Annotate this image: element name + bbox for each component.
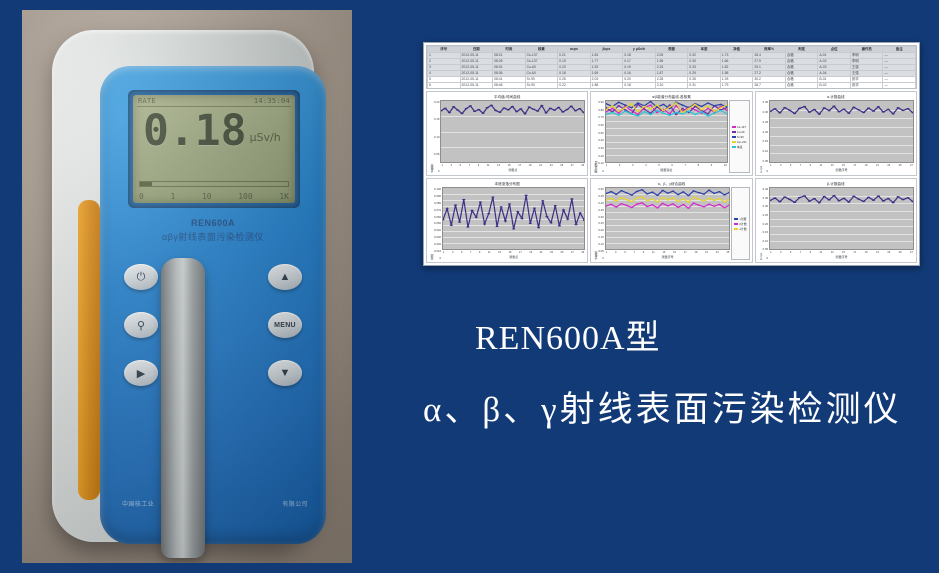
chart-data-point xyxy=(558,225,561,226)
chart-data-point xyxy=(444,108,447,109)
chart-data-point xyxy=(541,105,544,106)
chart-data-point xyxy=(838,200,841,201)
lcd-scale-tick: 0 xyxy=(139,192,144,201)
chart-data-point xyxy=(583,220,585,221)
chart-data-point xyxy=(677,201,680,202)
chart-data-point xyxy=(666,192,669,193)
chart-gridline xyxy=(770,162,913,163)
chart-data-point xyxy=(646,193,649,194)
chart-plot-area xyxy=(442,187,585,250)
chart-card[interactable]: α-计数曲线α cps0.350.300.250.200.150.100.050… xyxy=(755,91,917,176)
chart-data-point xyxy=(718,204,721,205)
device-grip-left xyxy=(78,200,100,500)
chart-legend-swatch xyxy=(734,218,738,220)
chart-y-tick: 0.010 xyxy=(434,249,441,253)
chart-data-point xyxy=(661,203,664,204)
chart-data-point xyxy=(833,106,836,107)
chart-data-point xyxy=(630,194,633,195)
chart-data-point xyxy=(636,111,639,112)
chart-data-point xyxy=(466,226,469,227)
chart-data-point xyxy=(862,112,865,113)
chart-y-axis-label: β cps xyxy=(758,187,763,260)
chart-data-point xyxy=(624,104,627,105)
lcd-scale-tick: 1K xyxy=(279,192,289,201)
chart-plot-area xyxy=(440,100,585,163)
chart-data-point xyxy=(545,216,548,217)
table-cell: 2012-05-11 xyxy=(460,89,493,90)
chart-data-point xyxy=(615,206,618,207)
chart-data-point xyxy=(475,217,478,218)
chart-data-point xyxy=(504,220,507,221)
chart-data-point xyxy=(828,110,831,111)
device-nameplate: REN600A αβγ射线表面污染检测仪 xyxy=(100,218,326,243)
chart-legend-item[interactable]: Sr-90 xyxy=(732,135,749,139)
lcd-reading: 0.18 μSv/h xyxy=(133,107,295,153)
chart-y-tick: 0.30 xyxy=(763,204,768,208)
chart-y-tick: 0.45 xyxy=(598,194,603,198)
product-banner: RATE 14:35:04 0.18 μSv/h 01101001K xyxy=(0,0,939,573)
product-title-model: REN600A型 xyxy=(423,310,939,359)
chart-data-point xyxy=(640,196,643,197)
chart-legend-swatch xyxy=(732,131,736,133)
chart-y-tick: 0.10 xyxy=(434,135,439,139)
chart-data-point xyxy=(852,107,855,108)
chart-data-point xyxy=(630,207,633,208)
device-keypad: ⏻ ⚲ ▶ ▲ MENU ▼ xyxy=(100,262,326,392)
chart-series-line xyxy=(443,195,584,229)
chart-data-point xyxy=(778,112,781,113)
chart-data-point xyxy=(882,200,885,201)
chart-data-point xyxy=(651,204,654,205)
table-cell: 08:51 xyxy=(493,89,526,90)
chart-y-tick: 0.15 xyxy=(763,230,768,234)
chart-data-point xyxy=(697,199,700,200)
chart-legend-label: Co-60 xyxy=(737,130,745,134)
chart-data-point xyxy=(700,109,703,110)
chart-y-axis-label: α cps xyxy=(758,100,763,173)
chart-data-point xyxy=(718,191,721,192)
chart-data-point xyxy=(818,113,821,114)
chart-data-point xyxy=(852,196,855,197)
chart-data-point xyxy=(723,194,726,195)
chart-data-point xyxy=(813,198,816,199)
lcd-scale-tick: 100 xyxy=(238,192,252,201)
chart-data-point xyxy=(656,207,659,208)
play-button[interactable]: ▶ xyxy=(124,360,158,386)
menu-button[interactable]: MENU xyxy=(268,312,302,338)
chart-data-point xyxy=(707,190,710,191)
chart-data-point xyxy=(675,114,678,115)
chart-data-point xyxy=(630,107,633,108)
table-cell: 0.17 xyxy=(623,89,656,90)
chart-data-point xyxy=(525,195,528,196)
chart-data-point xyxy=(491,196,494,197)
chart-data-point xyxy=(671,191,674,192)
chart-data-point xyxy=(713,105,716,106)
chart-data-point xyxy=(677,194,680,195)
chart-data-point xyxy=(687,108,690,109)
chart-data-point xyxy=(541,200,544,201)
chart-data-point xyxy=(465,108,468,109)
footer-text-right: 有限公司 xyxy=(282,499,308,508)
chart-data-point xyxy=(847,113,850,114)
table-cell: 0.20 xyxy=(558,89,591,90)
chart-legend-swatch xyxy=(732,146,736,148)
chart-data-point xyxy=(707,198,710,199)
chart-y-tick: 0.40 xyxy=(763,187,768,191)
chart-data-point xyxy=(882,111,885,112)
chart-data-point xyxy=(887,198,890,199)
lcd-value: 0.18 xyxy=(143,109,247,153)
chart-data-point xyxy=(692,190,695,191)
chart-data-point xyxy=(649,104,652,105)
chart-legend-swatch xyxy=(734,223,738,225)
chart-data-point xyxy=(702,200,705,201)
chart-y-tick: 0.30 xyxy=(598,215,603,219)
chart-data-point xyxy=(537,110,540,111)
chart-data-point xyxy=(862,201,865,202)
chart-data-point xyxy=(872,110,875,111)
table-cell: 7 xyxy=(428,89,461,90)
chart-y-axis-label: 本底 xyxy=(429,187,434,260)
table-cell: B-03 xyxy=(818,89,851,90)
chart-data-point xyxy=(558,107,561,108)
chart-data-point xyxy=(617,110,620,111)
chart-data-point xyxy=(617,102,620,103)
chart-data-point xyxy=(655,112,658,113)
chart-data-point xyxy=(524,113,527,114)
chart-legend-item[interactable]: γ剂量 xyxy=(734,217,748,221)
chart-y-tick: 0.90 xyxy=(598,100,603,104)
chart-x-axis-label: 测量点 xyxy=(442,255,585,260)
chart-data-point xyxy=(643,106,646,107)
chart-data-point xyxy=(671,203,674,204)
chart-legend: γ剂量β计数α计数 xyxy=(731,187,749,260)
chart-plot-area xyxy=(769,187,914,250)
chart-data-point xyxy=(651,198,654,199)
chart-data-point xyxy=(630,113,633,114)
table-cell: 李明 xyxy=(850,89,883,90)
chart-data-point xyxy=(574,224,577,225)
chart-card[interactable]: α/β能谱分布曲线-各核素相对强度0.900.800.700.600.500.4… xyxy=(590,91,752,176)
chart-y-tick: 0.080 xyxy=(434,201,441,205)
chart-data-point xyxy=(706,102,709,103)
chart-data-point xyxy=(793,113,796,114)
chart-data-point xyxy=(550,222,553,223)
table-cell: Cs-137 xyxy=(525,89,558,90)
chart-x-axis-label: 测量序号 xyxy=(769,255,914,260)
chart-data-point xyxy=(610,204,613,205)
chart-data-point xyxy=(516,111,519,112)
chart-data-point xyxy=(719,107,722,108)
chart-data-point xyxy=(666,199,669,200)
chart-y-tick: 0 xyxy=(434,256,441,260)
chart-y-tick: 0.35 xyxy=(598,208,603,212)
chart-y-tick: 0.05 xyxy=(763,247,768,251)
chart-data-point xyxy=(902,199,905,200)
chart-data-point xyxy=(554,205,557,206)
chart-y-ticks: 0.1000.0900.0800.0700.0600.0500.0400.030… xyxy=(434,187,442,260)
chart-data-point xyxy=(897,196,900,197)
chart-data-point xyxy=(562,209,565,210)
chart-y-tick: 0.40 xyxy=(598,138,603,142)
lcd-scale-tick: 1 xyxy=(170,192,175,201)
chart-data-point xyxy=(620,203,623,204)
chart-data-point xyxy=(457,109,460,110)
chart-data-point xyxy=(630,103,633,104)
chart-data-point xyxy=(668,104,671,105)
chart-y-tick: 0.10 xyxy=(598,161,603,165)
chart-data-point xyxy=(635,203,638,204)
chart-data-point xyxy=(798,197,801,198)
chart-data-point xyxy=(662,110,665,111)
chart-y-tick: 0.35 xyxy=(763,100,768,104)
lcd-screen: RATE 14:35:04 0.18 μSv/h 01101001K xyxy=(133,95,295,203)
chart-data-point xyxy=(808,111,811,112)
chart-y-tick: 0.070 xyxy=(434,208,441,212)
chart-data-point xyxy=(706,113,709,114)
chart-data-point xyxy=(702,193,705,194)
chart-data-point xyxy=(697,205,700,206)
chart-x-axis-label: 能量道址 xyxy=(605,168,728,173)
chart-data-point xyxy=(537,227,540,228)
chart-data-point xyxy=(520,108,523,109)
chart-data-point xyxy=(610,191,613,192)
table-cell: 合格 xyxy=(785,89,818,90)
chart-data-point xyxy=(570,106,573,107)
table-row[interactable]: 72012-05-1108:51Cs-1370.201.810.172.010.… xyxy=(428,89,916,90)
chart-legend: Cs-137Co-60Sr-90Am-241本底 xyxy=(729,100,750,173)
chart-data-point xyxy=(700,111,703,112)
chart-legend-swatch xyxy=(732,126,736,128)
chart-y-tick: 0.05 xyxy=(763,159,768,163)
table-cell: 1.81 xyxy=(590,89,623,90)
chart-y-tick: 0.020 xyxy=(434,242,441,246)
chart-card[interactable]: 本底涨落分布图本底0.1000.0900.0800.0700.0600.0500… xyxy=(426,178,588,263)
chart-data-point xyxy=(687,195,690,196)
chart-data-point xyxy=(450,225,453,226)
chart-data-point xyxy=(624,107,627,108)
chart-data-point xyxy=(828,199,831,200)
chart-data-point xyxy=(687,202,690,203)
chart-data-point xyxy=(697,192,700,193)
chart-data-point xyxy=(682,204,685,205)
chart-data-point xyxy=(630,110,633,111)
chart-legend-item[interactable]: β计数 xyxy=(734,222,748,226)
chart-data-point xyxy=(617,113,620,114)
chart-data-point xyxy=(636,102,639,103)
chart-legend-item[interactable]: Co-60 xyxy=(732,130,749,134)
chart-data-point xyxy=(611,112,614,113)
chart-data-point xyxy=(625,205,628,206)
chart-x-axis-label: 测量序号 xyxy=(769,168,914,173)
chart-legend-item[interactable]: Cs-137 xyxy=(732,125,749,129)
product-title-description: α、β、γ射线表面污染检测仪 xyxy=(423,381,939,432)
chart-card[interactable]: β-计数曲线β cps0.400.350.300.250.200.150.100… xyxy=(755,178,917,263)
lcd-unit: μSv/h xyxy=(250,131,281,153)
chart-y-tick: 0.20 xyxy=(763,222,768,226)
chart-legend-label: Am-241 xyxy=(737,140,747,144)
chart-gridline xyxy=(443,249,584,250)
chart-data-point xyxy=(897,107,900,108)
chart-data-point xyxy=(646,200,649,201)
chart-data-point xyxy=(675,102,678,103)
chart-data-point xyxy=(624,109,627,110)
up-arrow-button[interactable]: ▲ xyxy=(268,264,302,290)
chart-legend-item[interactable]: Am-241 xyxy=(732,140,749,144)
chart-data-point xyxy=(462,199,465,200)
chart-data-point xyxy=(499,112,502,113)
chart-y-tick: 0.80 xyxy=(598,108,603,112)
chart-plot-area xyxy=(769,100,914,163)
chart-legend-item[interactable]: 本底 xyxy=(732,145,749,149)
chart-gridline xyxy=(606,162,727,163)
chart-data-point xyxy=(533,207,536,208)
device-shell: RATE 14:35:04 0.18 μSv/h 01101001K xyxy=(52,30,314,542)
chart-data-point xyxy=(479,201,482,202)
chart-y-tick: 0.50 xyxy=(598,131,603,135)
chart-card[interactable]: 平均值-时间曲线计数率0.200.150.100.050135791113151… xyxy=(426,91,588,176)
chart-y-axis-label: 计数率 xyxy=(429,100,434,173)
chart-legend-label: 本底 xyxy=(737,145,743,149)
chart-gridline xyxy=(770,249,913,250)
chart-data-point xyxy=(620,190,623,191)
product-photo: RATE 14:35:04 0.18 μSv/h 01101001K xyxy=(22,10,352,563)
chart-y-tick: 0 xyxy=(598,256,603,260)
chart-data-point xyxy=(783,196,786,197)
backlight-button[interactable]: ⚲ xyxy=(124,312,158,338)
chart-data-point xyxy=(500,206,503,207)
chart-data-point xyxy=(446,208,449,209)
chart-data-point xyxy=(610,198,613,199)
chart-data-point xyxy=(723,201,726,202)
chart-data-point xyxy=(783,107,786,108)
chart-data-point xyxy=(682,191,685,192)
chart-data-point xyxy=(677,207,680,208)
chart-data-point xyxy=(646,206,649,207)
chart-data-point xyxy=(823,107,826,108)
chart-data-point xyxy=(778,201,781,202)
chart-data-point xyxy=(892,113,895,114)
chart-data-point xyxy=(681,104,684,105)
table-cell: 0.30 xyxy=(688,89,721,90)
down-arrow-button[interactable]: ▼ xyxy=(268,360,302,386)
chart-legend-label: γ剂量 xyxy=(739,217,746,221)
chart-data-point xyxy=(723,207,726,208)
chart-data-point xyxy=(803,195,806,196)
lcd-mode-label: RATE xyxy=(138,97,156,105)
chart-data-point xyxy=(681,108,684,109)
chart-data-point xyxy=(842,198,845,199)
chart-data-point xyxy=(617,115,620,116)
chart-y-tick: 0.15 xyxy=(434,117,439,121)
chart-y-tick: 0.040 xyxy=(434,228,441,232)
chart-data-point xyxy=(611,105,614,106)
chart-data-point xyxy=(649,101,652,102)
chart-data-point xyxy=(649,108,652,109)
chart-data-point xyxy=(867,197,870,198)
chart-y-tick: 0.090 xyxy=(434,194,441,198)
chart-data-point xyxy=(877,106,880,107)
chart-y-tick: 0.20 xyxy=(763,130,768,134)
chart-data-point xyxy=(635,197,638,198)
chart-data-point xyxy=(662,113,665,114)
lcd-status-row: RATE 14:35:04 xyxy=(133,95,295,105)
chart-y-tick: 0.20 xyxy=(434,100,439,104)
chart-legend-label: α计数 xyxy=(739,227,746,231)
chart-data-point xyxy=(857,109,860,110)
chart-data-point xyxy=(661,190,664,191)
chart-legend-item[interactable]: α计数 xyxy=(734,227,748,231)
chart-data-point xyxy=(469,105,472,106)
chart-data-point xyxy=(661,197,664,198)
chart-gridline xyxy=(606,249,730,250)
chart-data-point xyxy=(906,197,909,198)
chart-x-axis-label: 测量序号 xyxy=(605,255,731,260)
chart-data-point xyxy=(656,201,659,202)
chart-data-point xyxy=(507,109,510,110)
chart-y-tick: 0.20 xyxy=(598,154,603,158)
chart-data-point xyxy=(454,204,457,205)
data-table: 序号日期时间核素αcpsβcpsγ μSv/h表面本底净值效率%判定点位操作员备… xyxy=(426,45,917,89)
chart-legend-label: Cs-137 xyxy=(737,125,746,129)
chart-data-point xyxy=(635,191,638,192)
chart-y-tick: 0.10 xyxy=(763,149,768,153)
chart-data-point xyxy=(508,203,511,204)
chart-data-point xyxy=(692,196,695,197)
chart-data-point xyxy=(486,107,489,108)
chart-y-axis-label: 相对强度 xyxy=(593,100,598,173)
chart-y-tick: 0.15 xyxy=(763,139,768,143)
chart-card[interactable]: α、β、γ综合曲线计数率0.500.450.400.350.300.250.20… xyxy=(590,178,752,263)
chart-data-point xyxy=(833,195,836,196)
chart-y-tick: 0 xyxy=(763,169,768,173)
chart-data-point xyxy=(887,109,890,110)
table-cell: 1.71 xyxy=(720,89,753,90)
chart-data-point xyxy=(532,109,535,110)
chart-data-point xyxy=(495,226,498,227)
chart-data-point xyxy=(636,115,639,116)
chart-data-point xyxy=(692,202,695,203)
chart-data-point xyxy=(528,106,531,107)
chart-data-point xyxy=(461,113,464,114)
chart-y-tick: 0.050 xyxy=(434,221,441,225)
chart-data-point xyxy=(655,104,658,105)
power-button[interactable]: ⏻ xyxy=(124,264,158,290)
chart-data-point xyxy=(838,111,841,112)
lcd-bargraph xyxy=(139,181,289,187)
chart-data-point xyxy=(579,212,582,213)
chart-data-point xyxy=(803,106,806,107)
chart-series-line xyxy=(770,196,913,203)
chart-data-point xyxy=(877,195,880,196)
chart-data-point xyxy=(516,211,519,212)
hand-strap xyxy=(161,258,205,558)
chart-data-point xyxy=(687,207,690,208)
footer-text-left: 中国核工业 xyxy=(122,499,154,508)
software-screenshot-panel: 序号日期时间核素αcpsβcpsγ μSv/h表面本底净值效率%判定点位操作员备… xyxy=(423,42,920,266)
chart-legend-label: Sr-90 xyxy=(737,135,744,139)
chart-legend-swatch xyxy=(734,228,738,230)
chart-data-point xyxy=(702,206,705,207)
table-cell: 28.1 xyxy=(753,89,786,90)
chart-data-point xyxy=(719,104,722,105)
chart-data-point xyxy=(793,202,796,203)
chart-data-point xyxy=(617,105,620,106)
chart-data-point xyxy=(651,191,654,192)
chart-y-tick: 0.25 xyxy=(763,213,768,217)
chart-data-point xyxy=(847,201,850,202)
